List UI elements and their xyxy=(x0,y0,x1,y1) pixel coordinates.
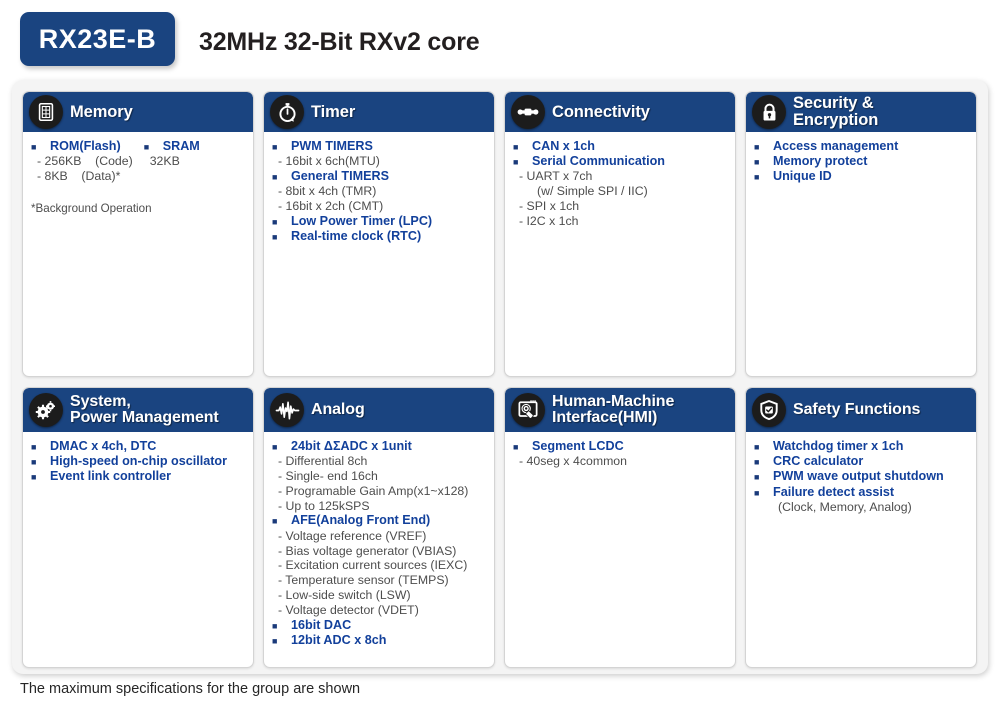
feature-item: DMAC x 4ch, DTC xyxy=(31,439,247,454)
feature-label: 16bit DAC xyxy=(291,618,351,633)
bullet-square-icon xyxy=(272,636,291,647)
waveform-icon xyxy=(270,393,304,427)
page-caption: The maximum specifications for the group… xyxy=(20,681,360,697)
feature-detail: - UART x 7ch xyxy=(513,169,729,184)
feature-label: PWM wave output shutdown xyxy=(773,469,944,484)
product-spec-page: RX23E-B 32MHz 32-Bit RXv2 core MemoryROM… xyxy=(0,0,1000,703)
feature-label: CRC calculator xyxy=(773,454,863,469)
card-title: Security & Encryption xyxy=(793,95,878,129)
bullet-square-icon xyxy=(513,142,532,153)
feature-label: CAN x 1ch xyxy=(532,139,595,154)
bullet-square-icon xyxy=(31,472,50,483)
card-header-memory: Memory xyxy=(23,92,253,132)
feature-item: Watchdog timer x 1ch xyxy=(754,439,970,454)
feature-detail: - I2C x 1ch xyxy=(513,214,729,229)
feature-detail: 32KB xyxy=(144,154,247,169)
card-title: Analog xyxy=(311,402,365,418)
card-header-security: Security & Encryption xyxy=(746,92,976,132)
card-timer: TimerPWM TIMERS- 16bit x 6ch(MTU)General… xyxy=(263,91,495,377)
card-analog: Analog24bit ΔΣADC x 1unit- Differential … xyxy=(263,387,495,668)
feature-detail: - Programable Gain Amp(x1~x128) xyxy=(272,484,488,499)
feature-label: Watchdog timer x 1ch xyxy=(773,439,903,454)
feature-label: General TIMERS xyxy=(291,169,389,184)
feature-detail: - 256KB (Code) xyxy=(31,154,144,169)
feature-detail: - Voltage reference (VREF) xyxy=(272,529,488,544)
card-title: Human-Machine Interface(HMI) xyxy=(552,394,674,427)
feature-detail: - 8bit x 4ch (TMR) xyxy=(272,184,488,199)
card-body-memory: ROM(Flash)- 256KB (Code)- 8KB (Data)*SRA… xyxy=(23,132,253,221)
bullet-square-icon xyxy=(31,142,50,153)
card-title: Memory xyxy=(70,104,133,121)
feature-item: Real-time clock (RTC) xyxy=(272,229,488,244)
card-body-safety: Watchdog timer x 1chCRC calculatorPWM wa… xyxy=(746,432,976,521)
feature-detail: - Differential 8ch xyxy=(272,454,488,469)
plug-connector-icon xyxy=(511,95,545,129)
feature-label: Failure detect assist xyxy=(773,485,894,500)
feature-item: Serial Communication xyxy=(513,154,729,169)
feature-label: AFE(Analog Front End) xyxy=(291,513,430,528)
feature-item: CAN x 1ch xyxy=(513,139,729,154)
feature-item: Segment LCDC xyxy=(513,439,729,454)
card-header-system-power: System, Power Management xyxy=(23,388,253,432)
memory-footnote: *Background Operation xyxy=(31,202,247,215)
feature-label: Unique ID xyxy=(773,169,832,184)
memory-columns: ROM(Flash)- 256KB (Code)- 8KB (Data)*SRA… xyxy=(31,139,247,184)
feature-label: PWM TIMERS xyxy=(291,139,373,154)
feature-detail: - 40seg x 4common xyxy=(513,454,729,469)
card-body-system-power: DMAC x 4ch, DTCHigh-speed on-chip oscill… xyxy=(23,432,253,491)
card-memory: MemoryROM(Flash)- 256KB (Code)- 8KB (Dat… xyxy=(22,91,254,377)
touchscreen-icon xyxy=(511,393,545,427)
feature-label: ROM(Flash) xyxy=(50,139,121,154)
feature-item: Event link controller xyxy=(31,469,247,484)
part-number-label: RX23E-B xyxy=(39,24,157,55)
feature-label: Real-time clock (RTC) xyxy=(291,229,421,244)
card-title: Timer xyxy=(311,104,355,121)
card-title: Connectivity xyxy=(552,104,650,121)
feature-detail: - Bias voltage generator (VBIAS) xyxy=(272,544,488,559)
feature-item: ROM(Flash) xyxy=(31,139,144,154)
memory-column: SRAM32KB xyxy=(144,139,247,184)
feature-detail: - Temperature sensor (TEMPS) xyxy=(272,573,488,588)
title-row: RX23E-B 32MHz 32-Bit RXv2 core xyxy=(0,0,1000,78)
feature-item: 16bit DAC xyxy=(272,618,488,633)
feature-item: Memory protect xyxy=(754,154,970,169)
card-security: Security & EncryptionAccess managementMe… xyxy=(745,91,977,377)
card-system-power: System, Power ManagementDMAC x 4ch, DTCH… xyxy=(22,387,254,668)
bullet-square-icon xyxy=(31,457,50,468)
feature-label: Memory protect xyxy=(773,154,867,169)
card-safety: Safety FunctionsWatchdog timer x 1chCRC … xyxy=(745,387,977,668)
bullet-square-icon xyxy=(272,217,291,228)
bullet-square-icon xyxy=(144,142,163,153)
feature-detail: - 16bit x 6ch(MTU) xyxy=(272,154,488,169)
card-body-timer: PWM TIMERS- 16bit x 6ch(MTU)General TIME… xyxy=(264,132,494,250)
feature-item: High-speed on-chip oscillator xyxy=(31,454,247,469)
feature-item: CRC calculator xyxy=(754,454,970,469)
card-header-connectivity: Connectivity xyxy=(505,92,735,132)
card-body-hmi: Segment LCDC- 40seg x 4common xyxy=(505,432,735,475)
card-hmi: Human-Machine Interface(HMI)Segment LCDC… xyxy=(504,387,736,668)
feature-label: High-speed on-chip oscillator xyxy=(50,454,227,469)
bullet-square-icon xyxy=(513,442,532,453)
feature-item: 24bit ΔΣADC x 1unit xyxy=(272,439,488,454)
gears-icon xyxy=(29,393,63,427)
feature-detail: - Up to 125kSPS xyxy=(272,499,488,514)
card-body-security: Access managementMemory protectUnique ID xyxy=(746,132,976,191)
feature-item: Unique ID xyxy=(754,169,970,184)
feature-note: (Clock, Memory, Analog) xyxy=(754,500,970,515)
feature-detail: - Single- end 16ch xyxy=(272,469,488,484)
feature-label: Serial Communication xyxy=(532,154,665,169)
feature-detail: - SPI x 1ch xyxy=(513,199,729,214)
card-title: System, Power Management xyxy=(70,394,219,427)
bullet-square-icon xyxy=(272,232,291,243)
memory-chip-icon xyxy=(29,95,63,129)
bullet-square-icon xyxy=(31,442,50,453)
feature-label: Access management xyxy=(773,139,898,154)
bullet-square-icon xyxy=(272,442,291,453)
feature-item: Low Power Timer (LPC) xyxy=(272,214,488,229)
memory-column: ROM(Flash)- 256KB (Code)- 8KB (Data)* xyxy=(31,139,144,184)
feature-detail: - 8KB (Data)* xyxy=(31,169,144,184)
feature-label: 24bit ΔΣADC x 1unit xyxy=(291,439,412,454)
card-header-timer: Timer xyxy=(264,92,494,132)
feature-note: (w/ Simple SPI / IIC) xyxy=(513,184,729,199)
bullet-square-icon xyxy=(754,157,773,168)
feature-item: Failure detect assist xyxy=(754,485,970,500)
bullet-square-icon xyxy=(272,621,291,632)
feature-label: Segment LCDC xyxy=(532,439,624,454)
stopwatch-icon xyxy=(270,95,304,129)
card-header-safety: Safety Functions xyxy=(746,388,976,432)
bullet-square-icon xyxy=(754,172,773,183)
bullet-square-icon xyxy=(754,142,773,153)
feature-item: AFE(Analog Front End) xyxy=(272,513,488,528)
feature-detail: - Voltage detector (VDET) xyxy=(272,603,488,618)
card-body-connectivity: CAN x 1chSerial Communication- UART x 7c… xyxy=(505,132,735,235)
shield-check-icon xyxy=(752,393,786,427)
feature-item: Access management xyxy=(754,139,970,154)
feature-detail: - Excitation current sources (IEXC) xyxy=(272,558,488,573)
feature-item: General TIMERS xyxy=(272,169,488,184)
bullet-square-icon xyxy=(754,472,773,483)
part-number-badge: RX23E-B xyxy=(20,12,175,66)
bullet-square-icon xyxy=(513,157,532,168)
feature-label: DMAC x 4ch, DTC xyxy=(50,439,156,454)
card-header-analog: Analog xyxy=(264,388,494,432)
bullet-square-icon xyxy=(754,488,773,499)
feature-item: SRAM xyxy=(144,139,247,154)
feature-label: 12bit ADC x 8ch xyxy=(291,633,386,648)
card-header-hmi: Human-Machine Interface(HMI) xyxy=(505,388,735,432)
bullet-square-icon xyxy=(272,142,291,153)
feature-label: SRAM xyxy=(163,139,200,154)
feature-label: Event link controller xyxy=(50,469,171,484)
card-body-analog: 24bit ΔΣADC x 1unit- Differential 8ch- S… xyxy=(264,432,494,654)
feature-item: PWM TIMERS xyxy=(272,139,488,154)
card-connectivity: ConnectivityCAN x 1chSerial Communicatio… xyxy=(504,91,736,377)
bullet-square-icon xyxy=(754,442,773,453)
feature-detail: - 16bit x 2ch (CMT) xyxy=(272,199,488,214)
lock-icon xyxy=(752,95,786,129)
card-grid: MemoryROM(Flash)- 256KB (Code)- 8KB (Dat… xyxy=(22,91,978,668)
feature-label: Low Power Timer (LPC) xyxy=(291,214,432,229)
core-title: 32MHz 32-Bit RXv2 core xyxy=(199,28,479,57)
feature-item: PWM wave output shutdown xyxy=(754,469,970,484)
feature-item: 12bit ADC x 8ch xyxy=(272,633,488,648)
feature-detail: - Low-side switch (LSW) xyxy=(272,588,488,603)
bullet-square-icon xyxy=(754,457,773,468)
bullet-square-icon xyxy=(272,172,291,183)
bullet-square-icon xyxy=(272,516,291,527)
card-title: Safety Functions xyxy=(793,402,920,418)
